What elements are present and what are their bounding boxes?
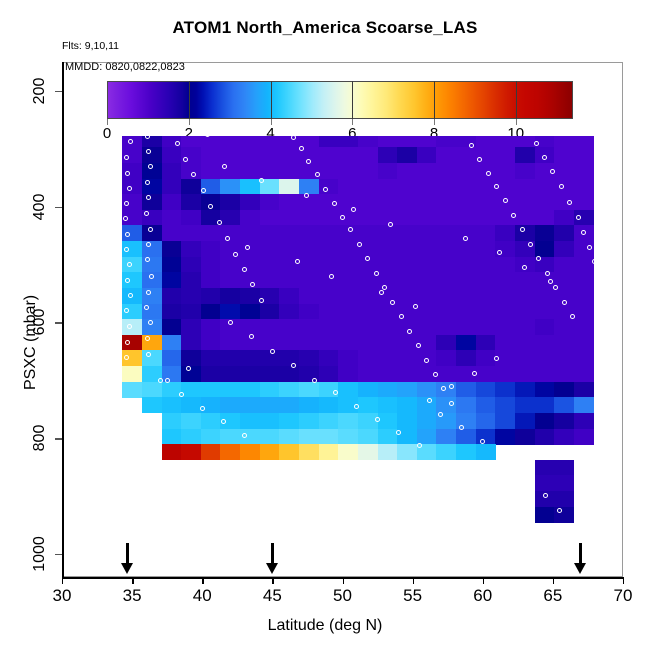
arrow-shaft bbox=[126, 543, 129, 565]
heatmap-cell bbox=[201, 319, 221, 335]
heatmap-cell bbox=[181, 136, 201, 148]
heatmap-cell bbox=[397, 257, 417, 273]
heatmap-cell bbox=[397, 179, 417, 195]
heatmap-cell bbox=[436, 429, 456, 445]
sample-point-marker bbox=[259, 178, 264, 183]
heatmap-cell bbox=[554, 163, 574, 179]
heatmap-cell bbox=[535, 304, 555, 320]
heatmap-cell bbox=[495, 335, 515, 351]
sample-point-marker bbox=[329, 274, 334, 279]
heatmap-cell bbox=[319, 350, 339, 366]
heatmap-cell bbox=[535, 179, 555, 195]
heatmap-cell bbox=[417, 241, 437, 257]
x-tick-label: 70 bbox=[614, 586, 633, 606]
heatmap-cell bbox=[220, 210, 240, 226]
heatmap-cell bbox=[495, 382, 515, 398]
sample-point-marker bbox=[242, 267, 247, 272]
sample-point-marker bbox=[323, 187, 328, 192]
y-tick bbox=[55, 554, 62, 555]
heatmap-cell bbox=[319, 241, 339, 257]
sample-point-marker bbox=[145, 180, 150, 185]
heatmap-cell bbox=[220, 350, 240, 366]
heatmap-cell bbox=[338, 366, 358, 382]
heatmap-cell bbox=[476, 304, 496, 320]
heatmap-cell bbox=[279, 179, 299, 195]
heatmap-cell bbox=[220, 194, 240, 210]
heatmap-cell bbox=[456, 350, 476, 366]
heatmap-cell bbox=[279, 335, 299, 351]
heatmap-cell bbox=[378, 444, 398, 460]
heatmap-cell bbox=[338, 147, 358, 163]
sample-point-marker bbox=[124, 355, 129, 360]
heatmap-cell bbox=[535, 413, 555, 429]
heatmap-cell bbox=[260, 210, 280, 226]
heatmap-cell bbox=[495, 413, 515, 429]
heatmap-cell bbox=[338, 429, 358, 445]
heatmap-area bbox=[114, 136, 623, 566]
sample-point-marker bbox=[200, 406, 205, 411]
heatmap-cell bbox=[319, 147, 339, 163]
heatmap-cell bbox=[299, 241, 319, 257]
heatmap-cell bbox=[260, 382, 280, 398]
heatmap-cell bbox=[260, 366, 280, 382]
heatmap-cell bbox=[299, 257, 319, 273]
heatmap-cell bbox=[574, 366, 594, 382]
heatmap-cell bbox=[299, 225, 319, 241]
heatmap-cell bbox=[574, 319, 594, 335]
heatmap-cell bbox=[142, 288, 162, 304]
sample-point-marker bbox=[399, 314, 404, 319]
heatmap-cell bbox=[358, 382, 378, 398]
heatmap-cell bbox=[162, 397, 182, 413]
sample-point-marker bbox=[520, 227, 525, 232]
heatmap-cell bbox=[515, 210, 535, 226]
heatmap-cell bbox=[495, 288, 515, 304]
heatmap-cell bbox=[436, 163, 456, 179]
heatmap-cell bbox=[279, 366, 299, 382]
heatmap-cell bbox=[260, 429, 280, 445]
heatmap-cell bbox=[260, 136, 280, 148]
heatmap-cell bbox=[535, 429, 555, 445]
heatmap-cell bbox=[338, 179, 358, 195]
sample-point-marker bbox=[165, 378, 170, 383]
x-tick-label: 45 bbox=[263, 586, 282, 606]
heatmap-cell bbox=[201, 413, 221, 429]
heatmap-cell bbox=[515, 335, 535, 351]
heatmap-cell bbox=[515, 429, 535, 445]
heatmap-cell bbox=[240, 163, 260, 179]
heatmap-cell bbox=[397, 288, 417, 304]
sample-point-marker bbox=[179, 392, 184, 397]
heatmap-cell bbox=[456, 429, 476, 445]
heatmap-cell bbox=[358, 136, 378, 148]
heatmap-cell bbox=[358, 288, 378, 304]
heatmap-cell bbox=[358, 179, 378, 195]
heatmap-cell bbox=[181, 366, 201, 382]
heatmap-cell bbox=[181, 225, 201, 241]
sample-point-marker bbox=[217, 220, 222, 225]
heatmap-cell bbox=[122, 319, 142, 335]
heatmap-cell bbox=[181, 272, 201, 288]
sample-point-marker bbox=[545, 271, 550, 276]
heatmap-cell bbox=[417, 194, 437, 210]
sample-point-marker bbox=[357, 242, 362, 247]
x-tick-label: 65 bbox=[543, 586, 562, 606]
heatmap-cell bbox=[338, 350, 358, 366]
heatmap-cell bbox=[338, 413, 358, 429]
heatmap-cell bbox=[397, 241, 417, 257]
heatmap-cell bbox=[319, 413, 339, 429]
heatmap-cell bbox=[181, 210, 201, 226]
heatmap-cell bbox=[456, 335, 476, 351]
heatmap-cell bbox=[279, 163, 299, 179]
colorbar-gradient bbox=[107, 81, 573, 119]
heatmap-cell bbox=[319, 319, 339, 335]
heatmap-cell bbox=[515, 272, 535, 288]
heatmap-cell bbox=[436, 147, 456, 163]
heatmap-cell bbox=[417, 163, 437, 179]
heatmap-cell bbox=[417, 179, 437, 195]
heatmap-cell bbox=[240, 304, 260, 320]
sample-point-marker bbox=[424, 358, 429, 363]
heatmap-cell bbox=[299, 304, 319, 320]
sample-point-marker bbox=[127, 324, 132, 329]
sample-point-marker bbox=[245, 245, 250, 250]
heatmap-cell bbox=[554, 147, 574, 163]
heatmap-cell bbox=[535, 460, 555, 476]
heatmap-cell bbox=[181, 429, 201, 445]
heatmap-cell bbox=[319, 444, 339, 460]
sample-point-marker bbox=[291, 136, 296, 140]
heatmap-cell bbox=[240, 413, 260, 429]
heatmap-cell bbox=[279, 136, 299, 148]
heatmap-cell bbox=[201, 163, 221, 179]
heatmap-cell bbox=[515, 304, 535, 320]
heatmap-cell bbox=[279, 210, 299, 226]
sample-point-marker bbox=[528, 242, 533, 247]
heatmap-cell bbox=[319, 257, 339, 273]
heatmap-cell bbox=[299, 319, 319, 335]
heatmap-cell bbox=[495, 225, 515, 241]
heatmap-cell bbox=[417, 319, 437, 335]
heatmap-cell bbox=[358, 210, 378, 226]
heatmap-cell bbox=[436, 366, 456, 382]
heatmap-cell bbox=[181, 241, 201, 257]
heatmap-cell bbox=[181, 382, 201, 398]
heatmap-cell bbox=[260, 397, 280, 413]
sample-point-marker bbox=[407, 329, 412, 334]
heatmap-cell bbox=[319, 397, 339, 413]
heatmap-cell bbox=[417, 225, 437, 241]
heatmap-cell bbox=[515, 163, 535, 179]
sample-point-marker bbox=[416, 343, 421, 348]
heatmap-cell bbox=[436, 397, 456, 413]
heatmap-cell bbox=[554, 460, 574, 476]
heatmap-cell bbox=[260, 319, 280, 335]
y-tick bbox=[55, 207, 62, 208]
heatmap-cell bbox=[319, 366, 339, 382]
sample-point-marker bbox=[124, 247, 129, 252]
sample-point-marker bbox=[388, 222, 393, 227]
x-tick-label: 55 bbox=[403, 586, 422, 606]
heatmap-cell bbox=[319, 335, 339, 351]
heatmap-cell bbox=[417, 288, 437, 304]
sample-point-marker bbox=[127, 262, 132, 267]
sample-point-marker bbox=[542, 155, 547, 160]
sample-point-marker bbox=[427, 398, 432, 403]
heatmap-cell bbox=[240, 225, 260, 241]
sample-point-marker bbox=[332, 201, 337, 206]
heatmap-cell bbox=[162, 304, 182, 320]
sample-point-marker bbox=[175, 141, 180, 146]
heatmap-cell bbox=[142, 382, 162, 398]
heatmap-cell bbox=[319, 429, 339, 445]
heatmap-cell bbox=[240, 179, 260, 195]
heatmap-cell bbox=[181, 413, 201, 429]
heatmap-cell bbox=[535, 366, 555, 382]
arrow-head bbox=[266, 563, 278, 574]
heatmap-cell bbox=[319, 163, 339, 179]
heatmap-cell bbox=[456, 241, 476, 257]
sample-point-marker bbox=[562, 300, 567, 305]
sample-point-marker bbox=[511, 213, 516, 218]
heatmap-cell bbox=[476, 382, 496, 398]
heatmap-cell bbox=[181, 319, 201, 335]
heatmap-cell bbox=[240, 382, 260, 398]
heatmap-cell bbox=[436, 288, 456, 304]
heatmap-cell bbox=[574, 136, 594, 148]
heatmap-cell bbox=[279, 413, 299, 429]
sample-point-marker bbox=[548, 279, 553, 284]
heatmap-cell bbox=[338, 288, 358, 304]
heatmap-cell bbox=[574, 179, 594, 195]
heatmap-cell bbox=[436, 272, 456, 288]
colorbar-tick bbox=[271, 81, 272, 119]
heatmap-cell bbox=[378, 194, 398, 210]
heatmap-cell bbox=[279, 382, 299, 398]
sample-point-marker bbox=[149, 274, 154, 279]
heatmap-cell bbox=[299, 288, 319, 304]
sample-point-marker bbox=[123, 216, 128, 221]
heatmap-cell bbox=[279, 444, 299, 460]
latitude-arrow bbox=[266, 543, 279, 575]
sample-point-marker bbox=[472, 371, 477, 376]
sample-point-marker bbox=[148, 320, 153, 325]
heatmap-cell bbox=[535, 241, 555, 257]
y-tick-label: 1000 bbox=[31, 536, 49, 572]
heatmap-cell bbox=[417, 272, 437, 288]
heatmap-cell bbox=[574, 429, 594, 445]
x-tick bbox=[343, 577, 344, 584]
heatmap-cell bbox=[554, 366, 574, 382]
sample-point-marker bbox=[225, 236, 230, 241]
heatmap-cell bbox=[535, 475, 555, 491]
heatmap-cell bbox=[260, 304, 280, 320]
heatmap-cell bbox=[554, 319, 574, 335]
sample-point-marker bbox=[183, 157, 188, 162]
heatmap-cell bbox=[436, 335, 456, 351]
heatmap-cell bbox=[240, 319, 260, 335]
plot-canvas: ATOM1 North_America Scoarse_LAS Flts: 9,… bbox=[0, 0, 650, 650]
heatmap-cell bbox=[220, 272, 240, 288]
heatmap-cell bbox=[319, 210, 339, 226]
flights-annotation: Flts: 9,10,11 bbox=[62, 40, 119, 52]
heatmap-cell bbox=[495, 366, 515, 382]
heatmap-cell bbox=[456, 257, 476, 273]
heatmap-cell bbox=[142, 350, 162, 366]
heatmap-cell bbox=[436, 194, 456, 210]
heatmap-cell bbox=[515, 319, 535, 335]
heatmap-cell bbox=[181, 350, 201, 366]
heatmap-cell bbox=[358, 350, 378, 366]
sample-point-marker bbox=[270, 349, 275, 354]
sample-point-marker bbox=[417, 443, 422, 448]
y-tick-label: 200 bbox=[31, 78, 49, 105]
sample-point-marker bbox=[228, 320, 233, 325]
heatmap-cell bbox=[436, 304, 456, 320]
heatmap-cell bbox=[142, 147, 162, 163]
heatmap-cell bbox=[476, 136, 496, 148]
heatmap-cell bbox=[554, 335, 574, 351]
y-tick bbox=[55, 91, 62, 92]
heatmap-cell bbox=[201, 136, 221, 148]
x-tick-label: 30 bbox=[53, 586, 72, 606]
heatmap-cell bbox=[181, 444, 201, 460]
heatmap-cell bbox=[515, 147, 535, 163]
sample-point-marker bbox=[567, 200, 572, 205]
heatmap-cell bbox=[358, 444, 378, 460]
heatmap-cell bbox=[358, 147, 378, 163]
arrow-shaft bbox=[271, 543, 274, 565]
heatmap-cell bbox=[378, 304, 398, 320]
heatmap-cell bbox=[220, 225, 240, 241]
heatmap-cell bbox=[495, 319, 515, 335]
sample-point-marker bbox=[413, 304, 418, 309]
x-tick-label: 60 bbox=[473, 586, 492, 606]
sample-point-marker bbox=[592, 259, 597, 264]
heatmap-cell bbox=[476, 194, 496, 210]
heatmap-cell bbox=[162, 288, 182, 304]
heatmap-cell bbox=[515, 194, 535, 210]
heatmap-cell bbox=[495, 136, 515, 148]
heatmap-cell bbox=[397, 225, 417, 241]
sample-point-marker bbox=[587, 245, 592, 250]
heatmap-cell bbox=[338, 272, 358, 288]
sample-point-marker bbox=[158, 378, 163, 383]
heatmap-cell bbox=[299, 272, 319, 288]
heatmap-cell bbox=[319, 288, 339, 304]
heatmap-cell bbox=[319, 225, 339, 241]
heatmap-cell bbox=[535, 194, 555, 210]
heatmap-cell bbox=[436, 444, 456, 460]
heatmap-cell bbox=[495, 147, 515, 163]
heatmap-cell bbox=[181, 179, 201, 195]
heatmap-cell bbox=[554, 257, 574, 273]
heatmap-cell bbox=[378, 272, 398, 288]
heatmap-cell bbox=[456, 163, 476, 179]
heatmap-cell bbox=[338, 241, 358, 257]
heatmap-cell bbox=[162, 413, 182, 429]
heatmap-cell bbox=[319, 179, 339, 195]
heatmap-cell bbox=[436, 257, 456, 273]
sample-point-marker bbox=[127, 186, 132, 191]
colorbar bbox=[107, 81, 573, 119]
heatmap-cell bbox=[201, 429, 221, 445]
heatmap-cell bbox=[456, 272, 476, 288]
sample-point-marker bbox=[340, 215, 345, 220]
heatmap-cell bbox=[535, 507, 555, 523]
heatmap-cell bbox=[260, 413, 280, 429]
heatmap-cell bbox=[574, 350, 594, 366]
heatmap-cell bbox=[495, 304, 515, 320]
heatmap-cell bbox=[162, 194, 182, 210]
heatmap-cell bbox=[554, 382, 574, 398]
heatmap-cell bbox=[495, 397, 515, 413]
heatmap-cell bbox=[397, 272, 417, 288]
heatmap-cell bbox=[456, 397, 476, 413]
x-tick bbox=[553, 577, 554, 584]
heatmap-cell bbox=[220, 257, 240, 273]
heatmap-cell bbox=[378, 241, 398, 257]
heatmap-cell bbox=[456, 444, 476, 460]
sample-point-marker bbox=[501, 452, 506, 457]
heatmap-cell bbox=[476, 413, 496, 429]
heatmap-cell bbox=[456, 210, 476, 226]
heatmap-cell bbox=[162, 272, 182, 288]
heatmap-cell bbox=[201, 272, 221, 288]
heatmap-cell bbox=[378, 366, 398, 382]
heatmap-cell bbox=[554, 210, 574, 226]
heatmap-cell bbox=[162, 350, 182, 366]
sample-point-marker bbox=[374, 271, 379, 276]
heatmap-cell bbox=[220, 304, 240, 320]
heatmap-cell bbox=[162, 179, 182, 195]
sample-point-marker bbox=[576, 215, 581, 220]
heatmap-cell bbox=[535, 382, 555, 398]
heatmap-cell bbox=[279, 288, 299, 304]
heatmap-cell bbox=[240, 147, 260, 163]
heatmap-cell bbox=[260, 194, 280, 210]
heatmap-cell bbox=[397, 210, 417, 226]
heatmap-cell bbox=[436, 179, 456, 195]
heatmap-cell bbox=[122, 366, 142, 382]
sample-point-marker bbox=[186, 366, 191, 371]
heatmap-cell bbox=[535, 319, 555, 335]
heatmap-cell bbox=[456, 179, 476, 195]
sample-point-marker bbox=[515, 465, 520, 470]
heatmap-cell bbox=[456, 147, 476, 163]
heatmap-cell bbox=[397, 194, 417, 210]
heatmap-cell bbox=[279, 304, 299, 320]
sample-point-marker bbox=[124, 155, 129, 160]
heatmap-cell bbox=[495, 272, 515, 288]
heatmap-cell bbox=[436, 225, 456, 241]
heatmap-cell bbox=[476, 272, 496, 288]
heatmap-cell bbox=[220, 397, 240, 413]
heatmap-cell bbox=[279, 429, 299, 445]
colorbar-tick bbox=[352, 81, 353, 119]
heatmap-cell bbox=[181, 304, 201, 320]
heatmap-cell bbox=[397, 163, 417, 179]
heatmap-cell bbox=[397, 382, 417, 398]
sample-point-marker bbox=[312, 378, 317, 383]
heatmap-cell bbox=[378, 413, 398, 429]
heatmap-cell bbox=[554, 225, 574, 241]
heatmap-cell bbox=[240, 366, 260, 382]
heatmap-cell bbox=[260, 335, 280, 351]
heatmap-cell bbox=[162, 147, 182, 163]
heatmap-cell bbox=[515, 225, 535, 241]
